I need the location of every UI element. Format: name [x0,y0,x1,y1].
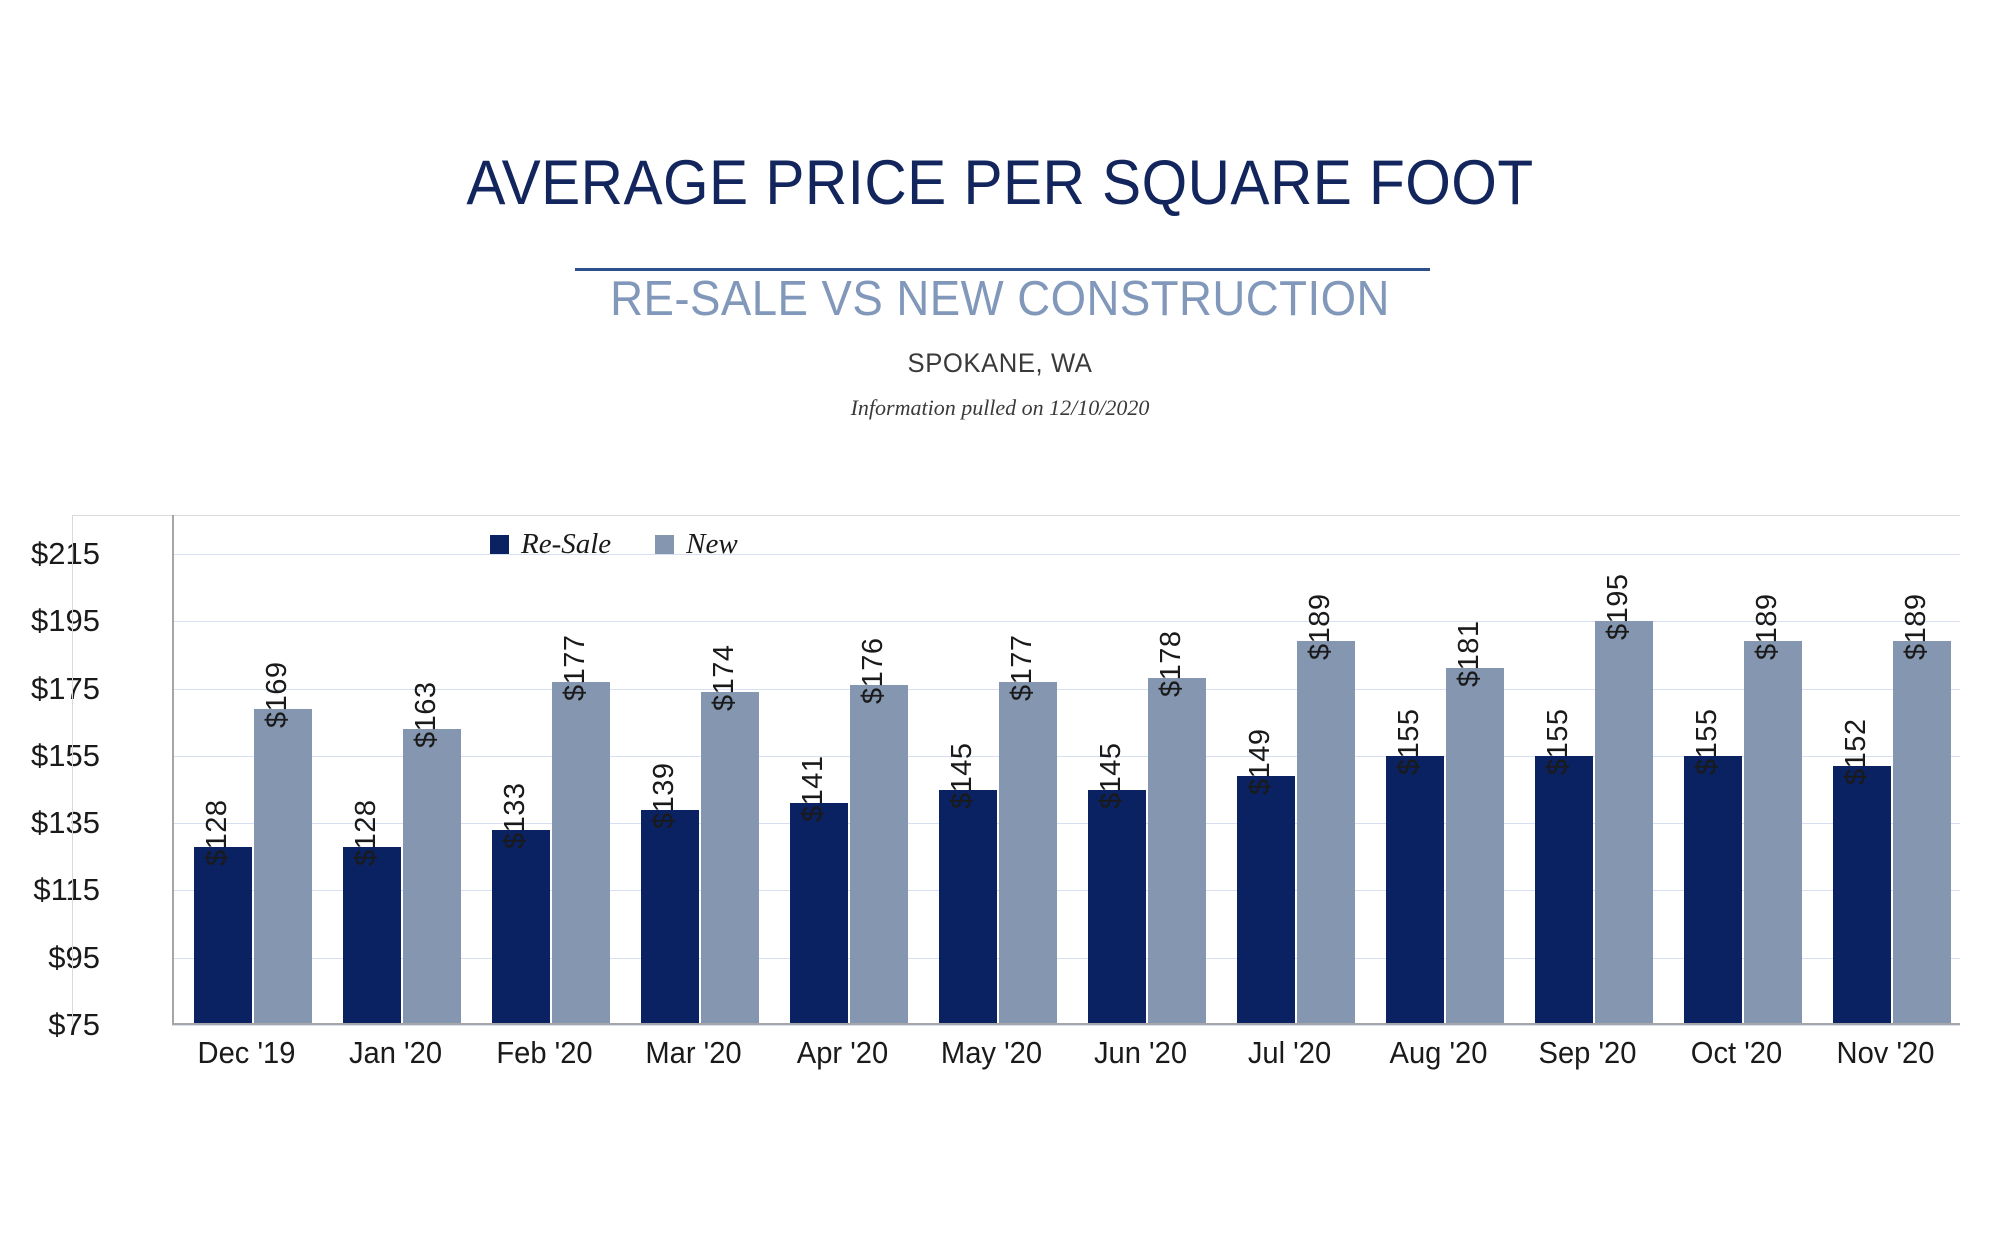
bar-resale[interactable] [1535,756,1593,1025]
bar-value-label: $189 [1751,594,1784,661]
gridline [172,1025,1960,1026]
bar-value-label: $133 [499,782,532,849]
x-tick-label: Jul '20 [1219,1035,1359,1071]
bar-resale[interactable] [1237,776,1295,1025]
bar-new[interactable] [1148,678,1206,1025]
bar-value-label: $174 [708,644,741,711]
legend-label: Re-Sale [521,528,611,561]
bar-value-label: $128 [350,799,383,866]
bar-new[interactable] [1446,668,1504,1025]
bar-value-label: $178 [1155,631,1188,698]
legend-label: New [686,528,738,561]
bar-value-label: $155 [1393,708,1426,775]
bar-value-label: $139 [648,762,681,829]
bar-new[interactable] [1297,641,1355,1025]
bar-value-label: $141 [797,755,830,822]
x-tick-label: Jan '20 [325,1035,465,1071]
bar-new[interactable] [1893,641,1951,1025]
bar-value-label: $149 [1244,729,1277,796]
bar-resale[interactable] [1386,756,1444,1025]
bar-group: $145$178 [1066,515,1215,1025]
bar-resale[interactable] [343,847,401,1025]
bar-group: $155$195 [1513,515,1662,1025]
bar-resale[interactable] [1088,790,1146,1026]
x-tick-label: Nov '20 [1815,1035,1955,1071]
x-tick-label: Aug '20 [1368,1035,1508,1071]
bar-resale[interactable] [790,803,848,1025]
x-axis-line [172,1023,1960,1025]
x-tick-label: Mar '20 [623,1035,763,1071]
bar-resale[interactable] [1684,756,1742,1025]
bar-new[interactable] [254,709,312,1025]
bar-group: $145$177 [917,515,1066,1025]
bar-group: $155$181 [1364,515,1513,1025]
bar-group: $149$189 [1215,515,1364,1025]
x-axis: Dec '19Jan '20Feb '20Mar '20Apr '20May '… [172,1035,1960,1095]
bar-new[interactable] [999,682,1057,1025]
chart-plot-area: $128$169$128$163$133$177$139$174$141$176… [172,515,1960,1025]
bar-value-label: $177 [559,634,592,701]
bar-resale[interactable] [194,847,252,1025]
bar-new[interactable] [1595,621,1653,1025]
chart-note: Information pulled on 12/10/2020 [0,377,2000,419]
bar-value-label: $195 [1602,574,1635,641]
legend-swatch-icon [490,535,509,554]
legend-item-re-sale[interactable]: Re-Sale [490,528,611,561]
bar-value-label: $181 [1453,621,1486,688]
bar-value-label: $169 [261,661,294,728]
bar-value-label: $128 [201,799,234,866]
bar-group: $141$176 [768,515,917,1025]
page-title: AVERAGE PRICE PER SQUARE FOOT [70,0,1930,215]
bar-group: $128$163 [321,515,470,1025]
y-axis-line [172,515,174,1024]
bar-new[interactable] [701,692,759,1025]
bar-group: $152$189 [1811,515,1960,1025]
x-tick-label: Oct '20 [1666,1035,1806,1071]
bar-group: $133$177 [470,515,619,1025]
bar-value-label: $145 [946,742,979,809]
chart-legend: Re-SaleNew [490,528,738,561]
bar-value-label: $145 [1095,742,1128,809]
bar-new[interactable] [1744,641,1802,1025]
x-tick-label: Feb '20 [474,1035,614,1071]
chart-header: AVERAGE PRICE PER SQUARE FOOT RE-SALE VS… [0,0,2000,419]
bar-resale[interactable] [939,790,997,1026]
chart-location: SPOKANE, WA [50,324,1950,377]
legend-item-new[interactable]: New [655,528,738,561]
bar-resale[interactable] [492,830,550,1025]
x-tick-label: Jun '20 [1070,1035,1210,1071]
bar-value-label: $155 [1691,708,1724,775]
chart-subtitle: RE-SALE VS NEW CONSTRUCTION [70,215,1930,324]
bar-value-label: $189 [1900,594,1933,661]
bar-value-label: $152 [1840,718,1873,785]
x-tick-label: May '20 [921,1035,1061,1071]
bar-group: $155$189 [1662,515,1811,1025]
bar-resale[interactable] [1833,766,1891,1025]
bar-new[interactable] [403,729,461,1025]
bar-new[interactable] [850,685,908,1025]
x-tick-label: Apr '20 [772,1035,912,1071]
bar-group: $139$174 [619,515,768,1025]
bar-new[interactable] [552,682,610,1025]
bar-value-label: $177 [1006,634,1039,701]
bar-value-label: $189 [1304,594,1337,661]
bar-value-label: $163 [410,681,443,748]
bar-group: $128$169 [172,515,321,1025]
x-tick-label: Sep '20 [1517,1035,1657,1071]
bar-resale[interactable] [641,810,699,1025]
x-tick-label: Dec '19 [176,1035,316,1071]
bar-value-label: $155 [1542,708,1575,775]
bar-value-label: $176 [857,638,890,705]
legend-swatch-icon [655,535,674,554]
